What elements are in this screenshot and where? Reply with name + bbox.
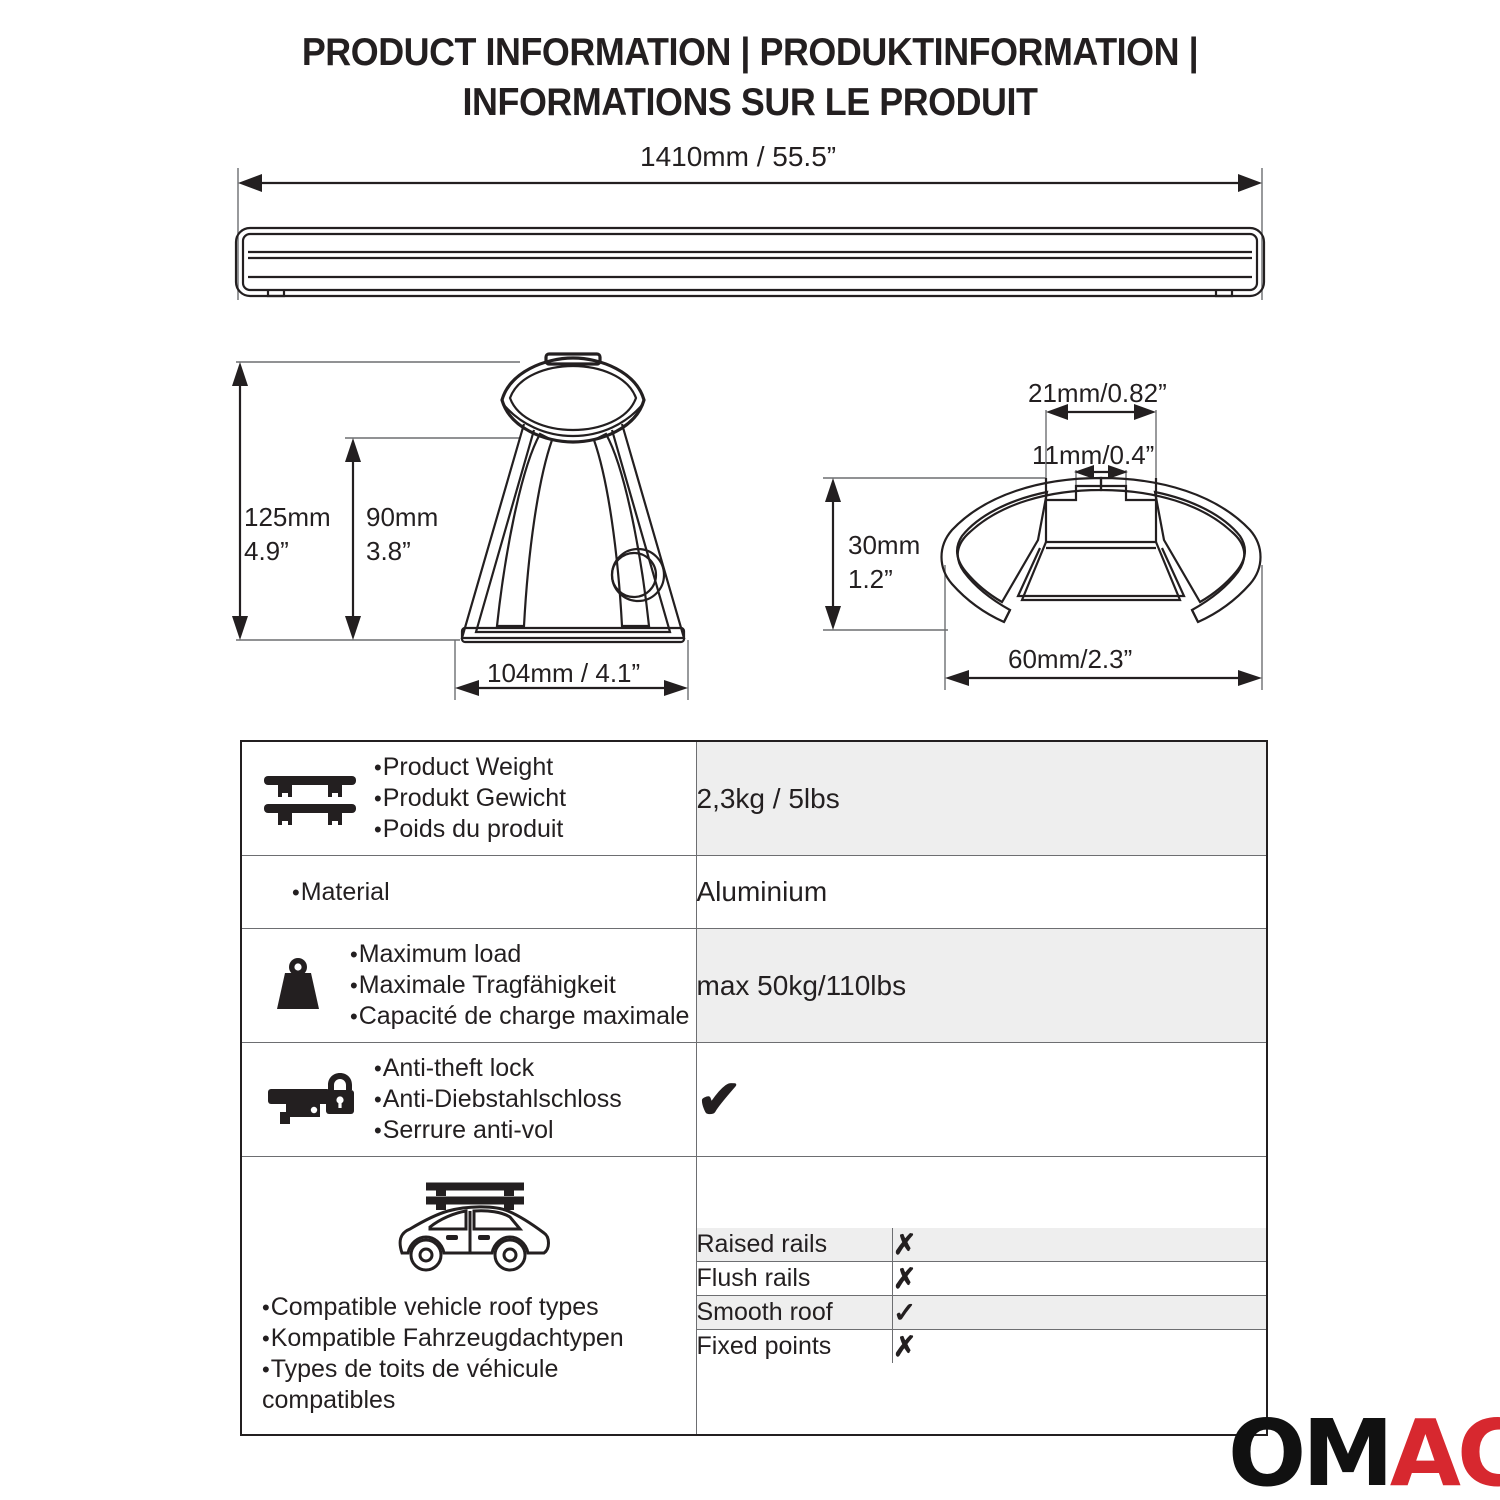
table-row: Compatible vehicle roof types Kompatible… bbox=[241, 1157, 1267, 1436]
spec-label-text-maxload: Maximum load Maximale Tragfähigkeit Capa… bbox=[350, 939, 689, 1032]
spec-label-cell-rooftypes: Compatible vehicle roof types Kompatible… bbox=[241, 1157, 696, 1436]
bullet-line: Anti-theft lock bbox=[374, 1053, 622, 1084]
roof-type-name: Fixed points bbox=[697, 1330, 893, 1364]
roof-type-mark: ✗ bbox=[893, 1228, 1268, 1262]
roof-type-row: Raised rails ✗ bbox=[697, 1228, 1268, 1262]
spec-label-cell-lock: Anti-theft lock Anti-Diebstahlschloss Se… bbox=[241, 1043, 696, 1157]
omac-logo-dark: OM bbox=[1228, 1400, 1390, 1500]
spec-label-text-lock: Anti-theft lock Anti-Diebstahlschloss Se… bbox=[374, 1053, 622, 1146]
spec-value-lock: ✔ bbox=[696, 1043, 1267, 1157]
spec-label-text-weight: Product Weight Produkt Gewicht Poids du … bbox=[374, 752, 566, 845]
table-row: Maximum load Maximale Tragfähigkeit Capa… bbox=[241, 929, 1267, 1043]
roof-type-mark: ✓ bbox=[893, 1296, 1268, 1330]
weight-icon bbox=[256, 955, 340, 1017]
bullet-line: Material bbox=[292, 877, 390, 908]
bullet-line: Kompatible Fahrzeugdachtypen bbox=[262, 1323, 686, 1354]
product-spec-table: Product Weight Produkt Gewicht Poids du … bbox=[240, 740, 1268, 1436]
profile-height-label: 30mm 1.2” bbox=[848, 528, 920, 596]
bullet-line: Maximum load bbox=[350, 939, 689, 970]
bullet-line: Capacité de charge maximale bbox=[350, 1001, 689, 1032]
bullet-line: Serrure anti-vol bbox=[374, 1115, 622, 1146]
table-row: Anti-theft lock Anti-Diebstahlschloss Se… bbox=[241, 1043, 1267, 1157]
spec-label-cell-maxload: Maximum load Maximale Tragfähigkeit Capa… bbox=[241, 929, 696, 1043]
bullet-line: Poids du produit bbox=[374, 814, 566, 845]
check-mark-icon: ✔ bbox=[697, 1070, 742, 1130]
omac-logo-red: AC bbox=[1390, 1400, 1500, 1500]
spec-label-text-material: Material bbox=[292, 877, 390, 908]
roof-type-row: Smooth roof ✓ bbox=[697, 1296, 1268, 1330]
bullet-line: Product Weight bbox=[374, 752, 566, 783]
profile-slot-outer-label: 21mm/0.82” bbox=[1028, 376, 1167, 410]
profile-slot-inner-label: 11mm/0.4” bbox=[1032, 438, 1154, 472]
roof-type-mark: ✗ bbox=[893, 1262, 1268, 1296]
roof-types-table: Raised rails ✗ Flush rails ✗ Smooth roof… bbox=[697, 1228, 1268, 1363]
car-with-rack-icon bbox=[384, 1171, 554, 1284]
roof-type-name: Flush rails bbox=[697, 1262, 893, 1296]
roof-type-mark: ✗ bbox=[893, 1330, 1268, 1364]
roof-type-name: Smooth roof bbox=[697, 1296, 893, 1330]
roof-type-name: Raised rails bbox=[697, 1228, 893, 1262]
bullet-line: Maximale Tragfähigkeit bbox=[350, 970, 689, 1001]
spec-label-text-rooftypes: Compatible vehicle roof types Kompatible… bbox=[252, 1292, 686, 1416]
bullet-line: Anti-Diebstahlschloss bbox=[374, 1084, 622, 1115]
profile-width-label: 60mm/2.3” bbox=[1008, 642, 1132, 676]
spec-value-maxload: max 50kg/110lbs bbox=[696, 929, 1267, 1043]
bullet-line: Compatible vehicle roof types bbox=[262, 1292, 686, 1323]
spec-value-weight: 2,3kg / 5lbs bbox=[696, 741, 1267, 856]
lock-icon bbox=[256, 1067, 364, 1133]
roof-type-row: Flush rails ✗ bbox=[697, 1262, 1268, 1296]
roof-type-row: Fixed points ✗ bbox=[697, 1330, 1268, 1364]
roof-types-subtable-cell: Raised rails ✗ Flush rails ✗ Smooth roof… bbox=[696, 1157, 1267, 1436]
omac-logo: OMAC bbox=[1228, 1408, 1500, 1500]
bullet-line: Produkt Gewicht bbox=[374, 783, 566, 814]
product-information-page: PRODUCT INFORMATION | PRODUKTINFORMATION… bbox=[0, 0, 1500, 1500]
spec-label-cell-material: Material bbox=[241, 856, 696, 929]
spec-value-material: Aluminium bbox=[696, 856, 1267, 929]
crossbars-icon bbox=[256, 768, 364, 830]
spec-label-cell-weight: Product Weight Produkt Gewicht Poids du … bbox=[241, 741, 696, 856]
table-row: Product Weight Produkt Gewicht Poids du … bbox=[241, 741, 1267, 856]
bullet-line: Types de toits de véhicule compatibles bbox=[262, 1354, 686, 1416]
table-row: Material Aluminium bbox=[241, 856, 1267, 929]
